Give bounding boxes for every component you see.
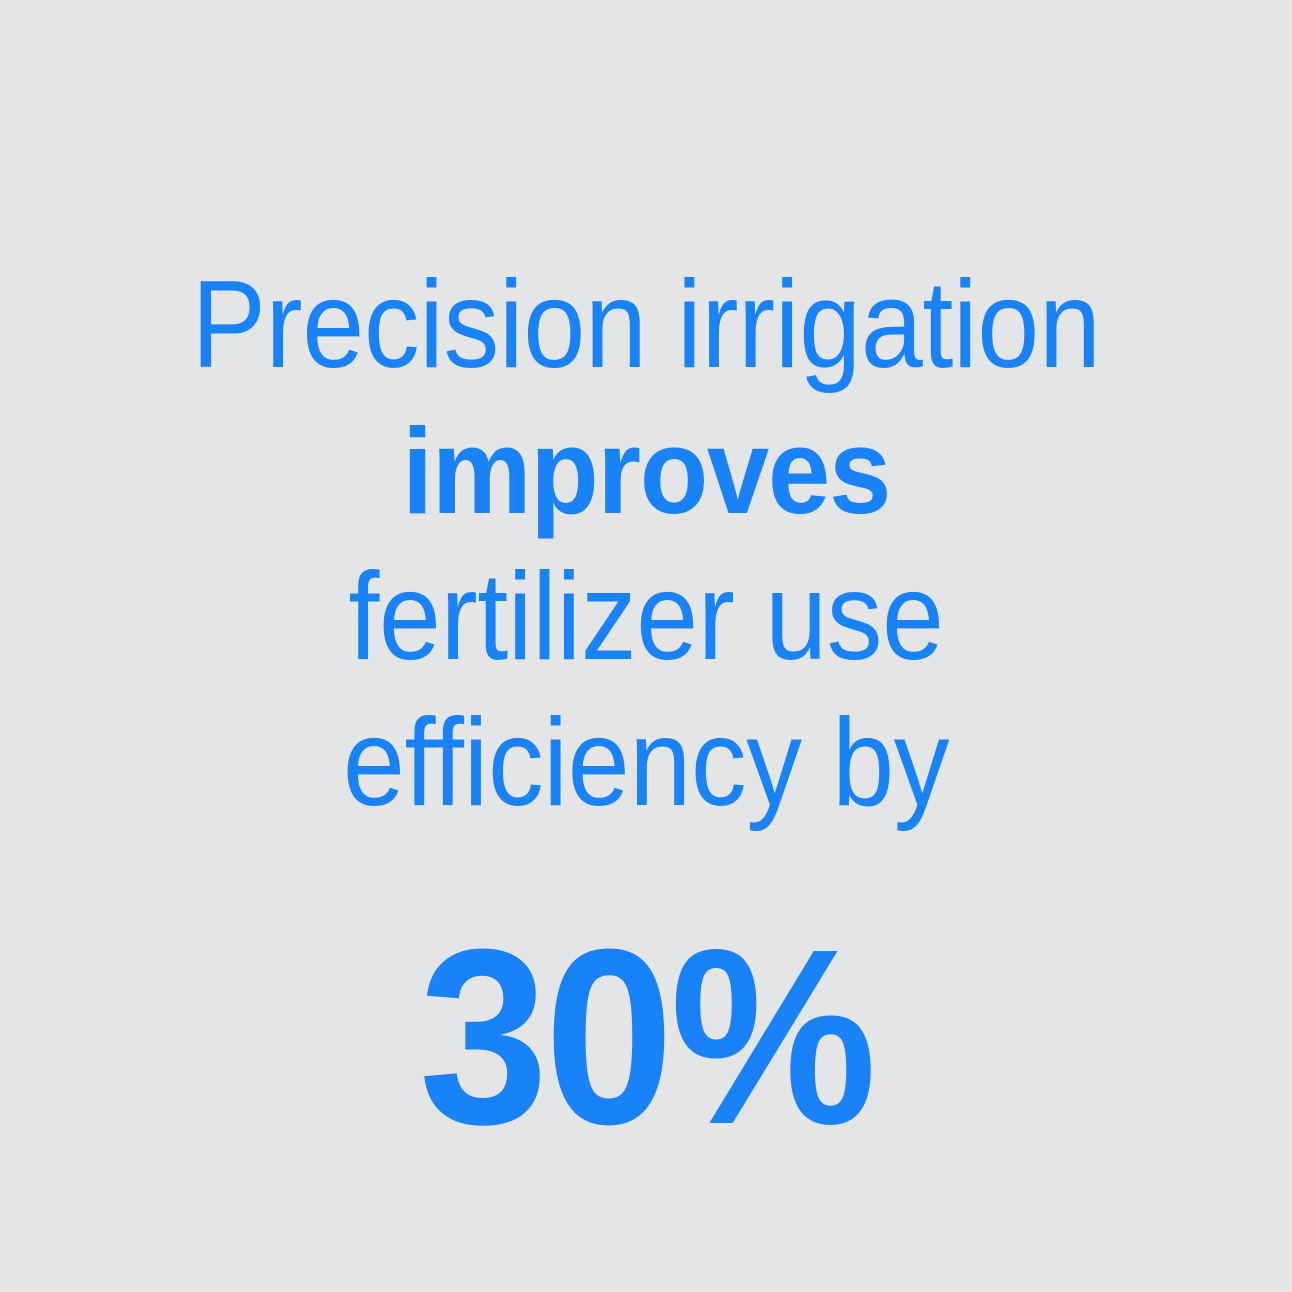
headline-block: Precision irrigation improves fertilizer… <box>0 252 1292 836</box>
headline-line-4: efficiency by <box>101 690 1192 836</box>
headline-line-3: fertilizer use <box>101 544 1192 690</box>
statistic-value: 30% <box>45 912 1247 1162</box>
headline-line-2-emphasis: improves <box>88 398 1203 544</box>
headline-line-1: Precision irrigation <box>101 252 1192 398</box>
statistic-callout-card: Precision irrigation improves fertilizer… <box>0 0 1292 1292</box>
statistic-value-block: 30% <box>0 912 1292 1162</box>
